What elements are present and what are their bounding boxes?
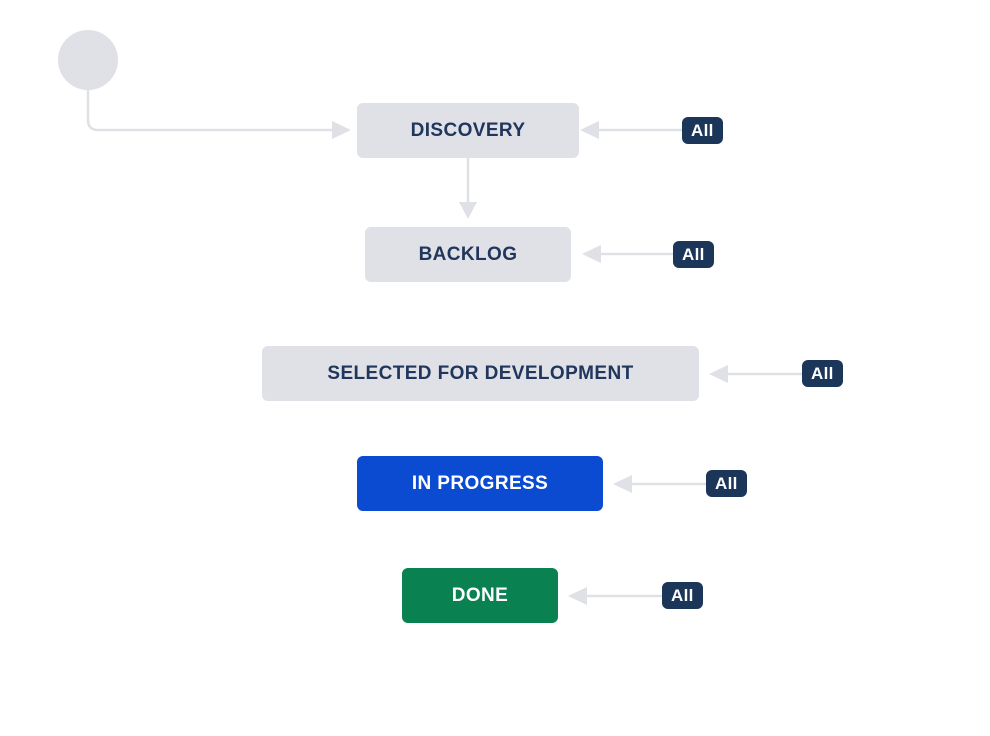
status-node-label: IN PROGRESS [412, 473, 548, 495]
all-badge-label: All [682, 245, 705, 265]
status-node-done[interactable]: DONE [402, 568, 558, 623]
all-badge-label: All [811, 364, 834, 384]
status-node-discovery[interactable]: DISCOVERY [357, 103, 579, 158]
all-badge-label: All [691, 121, 714, 141]
all-badge-label: All [715, 474, 738, 494]
status-node-label: DISCOVERY [411, 120, 526, 142]
status-node-label: BACKLOG [419, 244, 518, 266]
all-badge-in-progress[interactable]: All [706, 470, 747, 497]
status-node-selected-for-development[interactable]: SELECTED FOR DEVELOPMENT [262, 346, 699, 401]
status-node-label: SELECTED FOR DEVELOPMENT [327, 363, 633, 385]
edge-all-to-in-progress [613, 475, 706, 493]
edge-all-to-done [568, 587, 662, 605]
edge-all-to-selected-for-development [709, 365, 802, 383]
start-node[interactable] [58, 30, 118, 90]
all-badge-backlog[interactable]: All [673, 241, 714, 268]
status-node-label: DONE [452, 585, 509, 607]
edge-all-to-discovery [580, 121, 682, 139]
status-node-backlog[interactable]: BACKLOG [365, 227, 571, 282]
status-node-in-progress[interactable]: IN PROGRESS [357, 456, 603, 511]
workflow-diagram-canvas: DISCOVERY BACKLOG SELECTED FOR DEVELOPME… [0, 0, 990, 736]
all-badge-done[interactable]: All [662, 582, 703, 609]
edge-discovery-to-backlog [459, 158, 477, 219]
all-badge-label: All [671, 586, 694, 606]
edge-all-to-backlog [582, 245, 673, 263]
all-badge-selected-for-development[interactable]: All [802, 360, 843, 387]
all-badge-discovery[interactable]: All [682, 117, 723, 144]
edge-start-to-discovery [88, 90, 351, 139]
